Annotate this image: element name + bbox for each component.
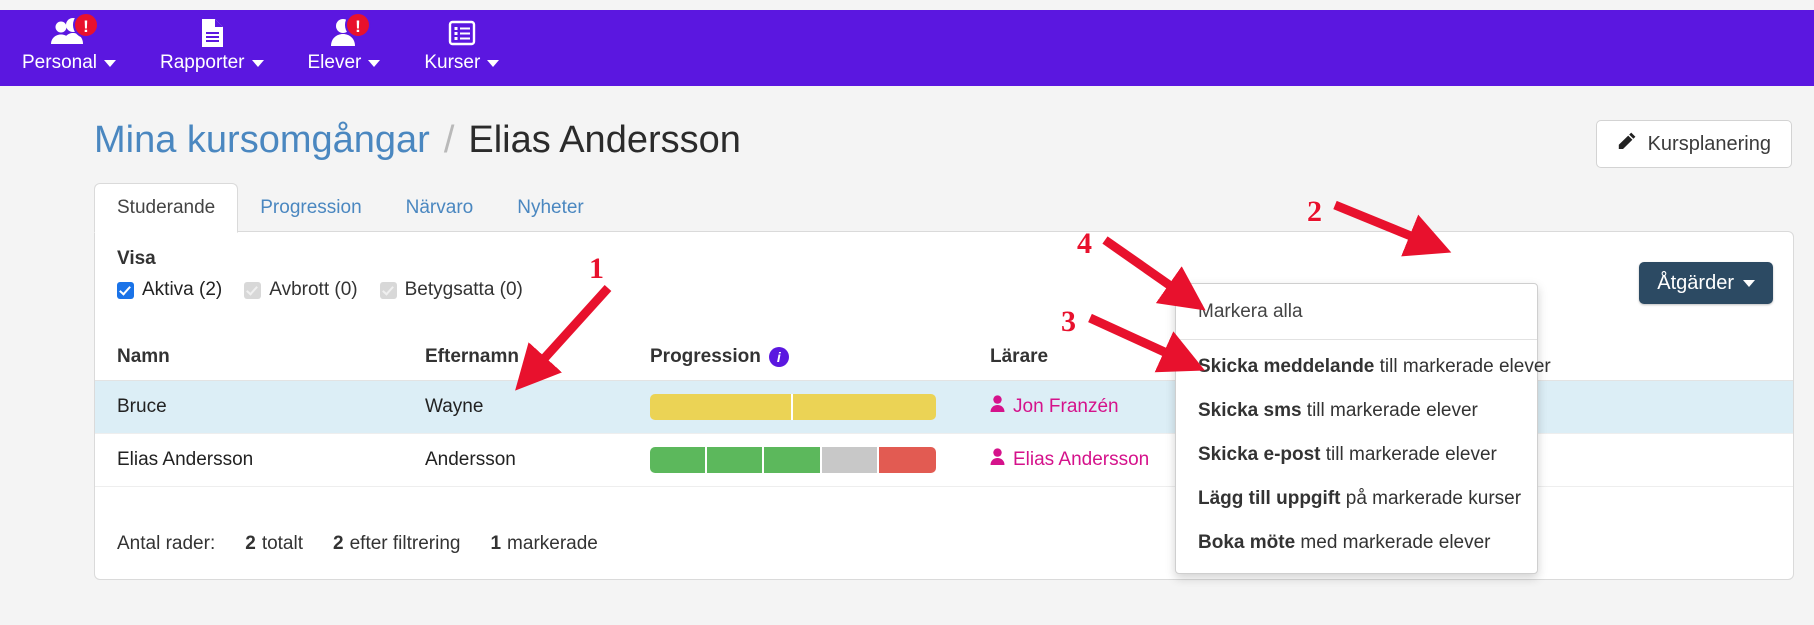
filter-avbrott[interactable]: Avbrott (0) (244, 279, 357, 301)
chevron-down-icon (368, 60, 380, 67)
filter-label-avbrott: Avbrott (0) (269, 279, 357, 301)
cell-namn: Bruce (95, 381, 425, 434)
main-navigation: ! Personal Rapporter ! (0, 10, 1814, 86)
cell-efternamn: Andersson (425, 434, 650, 487)
nav-item-rapporter[interactable]: Rapporter (138, 10, 286, 76)
atgarder-button[interactable]: Åtgärder (1639, 262, 1773, 304)
kursplanering-button[interactable]: Kursplanering (1596, 120, 1792, 168)
nav-label-kurser: Kurser (424, 50, 499, 76)
atgarder-label: Åtgärder (1657, 272, 1734, 295)
breadcrumb-link-kursomgangar[interactable]: Mina kursomgångar (94, 119, 430, 161)
chevron-down-icon (104, 60, 116, 67)
topbar-gap (0, 0, 1814, 10)
cell-progression[interactable] (650, 434, 990, 487)
page-title: Elias Andersson (468, 119, 741, 161)
nav-label-personal: Personal (22, 50, 116, 76)
menu-separator (1176, 339, 1537, 340)
row-count-summary: Antal rader: 2 totalt 2 efter filtrering… (117, 533, 598, 555)
progression-segment (650, 447, 707, 473)
atgarder-dropdown-menu: Markera alla Skicka meddelande till mark… (1175, 283, 1538, 574)
chevron-down-icon (487, 60, 499, 67)
nav-text-personal: Personal (22, 50, 97, 76)
nav-item-kurser[interactable]: Kurser (402, 10, 521, 76)
progression-segment (764, 447, 821, 473)
kursplanering-label: Kursplanering (1648, 133, 1771, 156)
table-body: Bruce Wayne (95, 381, 1793, 487)
cell-namn: Elias Andersson (95, 434, 425, 487)
menu-item-markera-alla[interactable]: Markera alla (1176, 290, 1537, 334)
filters-title: Visa (117, 248, 156, 270)
filter-aktiva[interactable]: Aktiva (2) (117, 279, 222, 301)
user-icon: ! (327, 16, 361, 50)
chevron-down-icon (252, 60, 264, 67)
annotation-number-3: 3 (1061, 305, 1076, 339)
checkbox-betygsatta[interactable] (380, 282, 397, 299)
nav-text-rapporter: Rapporter (160, 50, 245, 76)
col-header-namn[interactable]: Namn (95, 340, 425, 381)
document-icon (197, 16, 227, 50)
row-count-filtered: 2 (333, 533, 344, 555)
menu-item-skicka-meddelande[interactable]: Skicka meddelande till markerade elever (1176, 345, 1537, 389)
table-row[interactable]: Bruce Wayne (95, 381, 1793, 434)
menu-item-boka-mote[interactable]: Boka möte med markerade elever (1176, 521, 1537, 565)
filter-label-betygsatta: Betygsatta (0) (405, 279, 523, 301)
nav-badge-personal: ! (73, 12, 99, 38)
nav-item-personal[interactable]: ! Personal (0, 10, 138, 76)
cell-progression[interactable] (650, 381, 990, 434)
nav-text-kurser: Kurser (424, 50, 480, 76)
nav-text-elever: Elever (308, 50, 362, 76)
checkbox-avbrott[interactable] (244, 282, 261, 299)
filter-group: Aktiva (2) Avbrott (0) Betygsatta (0) (117, 279, 523, 301)
tab-narvaro[interactable]: Närvaro (384, 184, 496, 232)
tab-bar: Studerande Progression Närvaro Nyheter (94, 184, 606, 232)
row-count-marked: 1 (490, 533, 501, 555)
annotation-number-1: 1 (589, 252, 604, 286)
pencil-icon (1617, 131, 1637, 157)
row-count-marked-label: markerade (507, 533, 598, 555)
menu-item-lagg-till-uppgift-bold: Lägg till uppgift (1198, 488, 1340, 509)
checkbox-aktiva[interactable] (117, 282, 134, 299)
menu-item-boka-mote-bold: Boka möte (1198, 532, 1295, 553)
col-header-efternamn[interactable]: Efternamn (425, 340, 650, 381)
table-row[interactable]: Elias Andersson Andersson (95, 434, 1793, 487)
students-panel: Visa Aktiva (2) Avbrott (0) Betygsatta (… (94, 231, 1794, 580)
row-count-label: Antal rader: (117, 533, 215, 555)
breadcrumb-separator: / (444, 119, 455, 161)
list-card-icon (447, 16, 477, 50)
tab-nyheter[interactable]: Nyheter (495, 184, 606, 232)
menu-item-skicka-epost[interactable]: Skicka e-post till markerade elever (1176, 433, 1537, 477)
nav-item-elever[interactable]: ! Elever (286, 10, 403, 76)
menu-item-lagg-till-uppgift-rest: på markerade kurser (1340, 488, 1521, 509)
nav-badge-elever: ! (345, 12, 371, 38)
menu-item-boka-mote-rest: med markerade elever (1295, 532, 1490, 553)
chevron-down-icon (1743, 280, 1755, 287)
breadcrumb: Mina kursomgångar/Elias Andersson (94, 118, 741, 162)
annotation-number-2: 2 (1307, 195, 1322, 229)
progression-segment (707, 447, 764, 473)
row-count-total: 2 (245, 533, 256, 555)
menu-item-lagg-till-uppgift[interactable]: Lägg till uppgift på markerade kurser (1176, 477, 1537, 521)
menu-item-skicka-sms[interactable]: Skicka sms till markerade elever (1176, 389, 1537, 433)
tab-progression[interactable]: Progression (238, 184, 383, 232)
progression-bar (650, 447, 936, 473)
menu-item-skicka-epost-bold: Skicka e-post (1198, 444, 1321, 465)
annotation-number-4: 4 (1077, 227, 1092, 261)
filter-label-aktiva: Aktiva (2) (142, 279, 222, 301)
menu-item-skicka-sms-rest: till markerade elever (1302, 400, 1478, 421)
row-count-total-label: totalt (262, 533, 303, 555)
progression-segment (650, 394, 793, 420)
col-header-progression-label: Progression (650, 346, 761, 367)
teacher-name: Elias Andersson (1013, 449, 1149, 471)
progression-bar (650, 394, 936, 420)
cell-efternamn: Wayne (425, 381, 650, 434)
row-count-filtered-label: efter filtrering (350, 533, 461, 555)
menu-item-skicka-epost-rest: till markerade elever (1321, 444, 1497, 465)
menu-item-skicka-meddelande-rest: till markerade elever (1374, 356, 1550, 377)
tab-studerande[interactable]: Studerande (94, 183, 238, 233)
filter-betygsatta[interactable]: Betygsatta (0) (380, 279, 523, 301)
progression-segment (879, 447, 936, 473)
nav-label-rapporter: Rapporter (160, 50, 264, 76)
person-icon (990, 395, 1005, 419)
person-icon (990, 448, 1005, 472)
progression-segment (822, 447, 879, 473)
info-icon[interactable]: i (769, 347, 789, 367)
menu-item-skicka-sms-bold: Skicka sms (1198, 400, 1302, 421)
col-header-progression[interactable]: Progressioni (650, 340, 990, 381)
menu-item-skicka-meddelande-bold: Skicka meddelande (1198, 356, 1374, 377)
teacher-name: Jon Franzén (1013, 396, 1119, 418)
users-icon: ! (49, 16, 89, 50)
progression-segment (793, 394, 936, 420)
nav-label-elever: Elever (308, 50, 381, 76)
